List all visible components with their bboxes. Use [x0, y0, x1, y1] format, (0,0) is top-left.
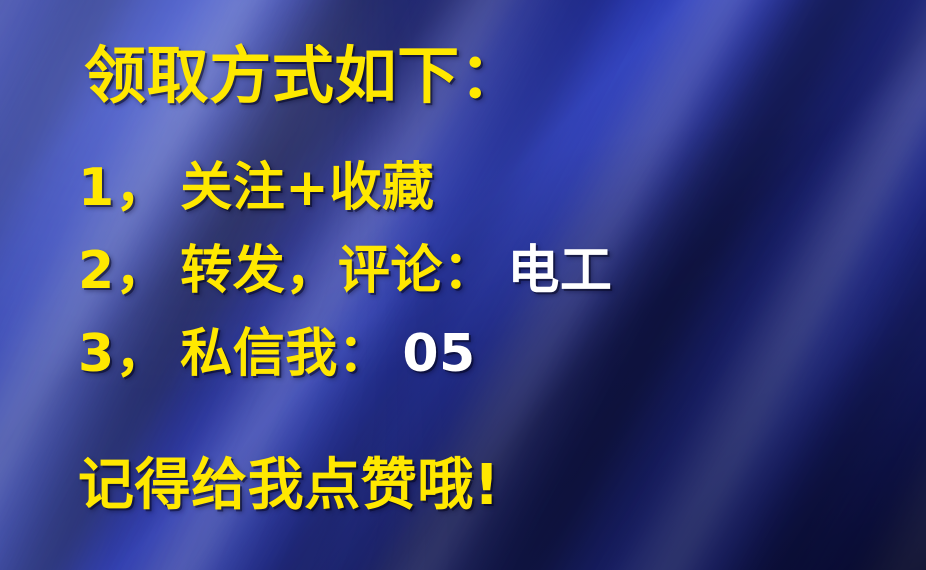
- promo-poster: 领取方式如下： 1，关注+收藏 2，转发，评论：电工 3，私信我：05 记得给我…: [0, 0, 926, 570]
- list-item: 3，私信我：05: [78, 328, 476, 380]
- step-1-action: 关注+收藏: [180, 158, 434, 218]
- step-3-index: 3，: [78, 324, 168, 384]
- footer-call-to-action: 记得给我点赞哦!: [78, 458, 500, 514]
- page-title: 领取方式如下：: [84, 45, 522, 107]
- list-item: 1，关注+收藏: [78, 162, 434, 214]
- list-item: 2，转发，评论：电工: [78, 245, 612, 297]
- step-3-action: 私信我：: [180, 324, 390, 384]
- step-3-value: 05: [402, 324, 475, 384]
- step-2-index: 2，: [78, 241, 168, 301]
- poster-content: 领取方式如下： 1，关注+收藏 2，转发，评论：电工 3，私信我：05 记得给我…: [0, 0, 926, 570]
- step-2-action: 转发，评论：: [180, 241, 495, 301]
- step-2-value: 电工: [507, 241, 612, 301]
- step-1-index: 1，: [78, 158, 168, 218]
